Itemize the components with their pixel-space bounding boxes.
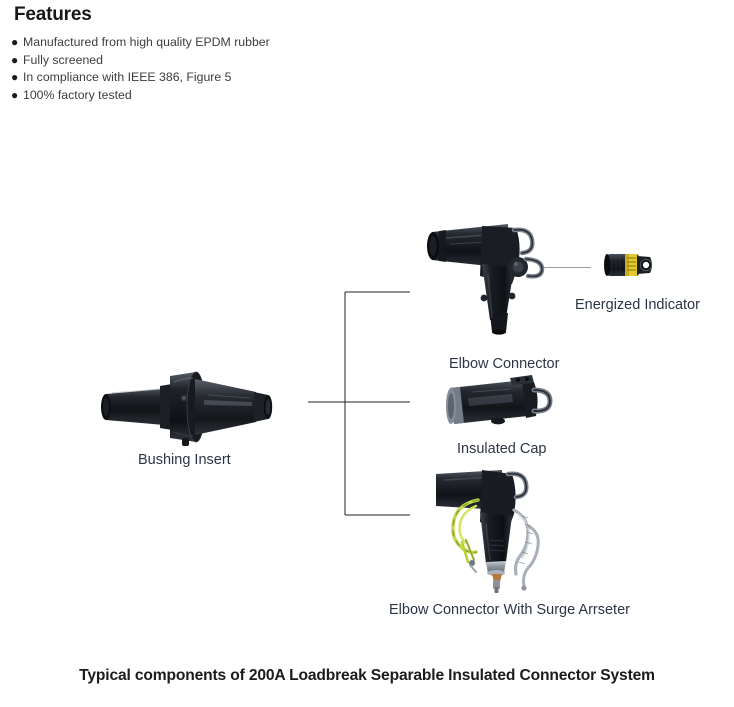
bullet-icon: ●	[11, 52, 18, 70]
label-energized-indicator: Energized Indicator	[575, 297, 700, 313]
feature-item: ● Fully screened	[10, 52, 270, 70]
feature-item: ● Manufactured from high quality EPDM ru…	[10, 34, 270, 52]
label-insulated-cap: Insulated Cap	[457, 441, 546, 457]
label-bushing-insert: Bushing Insert	[138, 452, 231, 468]
feature-item-label: Manufactured from high quality EPDM rubb…	[23, 35, 270, 49]
feature-item-label: 100% factory tested	[23, 88, 132, 102]
figure-caption: Typical components of 200A Loadbreak Sep…	[0, 667, 734, 685]
energized-indicator-illustration-icon	[602, 248, 660, 284]
elbow-connector-illustration-icon	[426, 214, 556, 336]
bullet-icon: ●	[11, 69, 18, 87]
bullet-icon: ●	[11, 87, 18, 105]
three-way-bracket-connector-icon	[300, 285, 420, 525]
label-elbow-connector-surge-arrester: Elbow Connector With Surge Arrseter	[389, 602, 630, 618]
features-list: ● Manufactured from high quality EPDM ru…	[10, 34, 270, 104]
datasheet-page: Features ● Manufactured from high qualit…	[0, 0, 734, 707]
feature-item: ● In compliance with IEEE 386, Figure 5	[10, 69, 270, 87]
feature-item: ● 100% factory tested	[10, 87, 270, 105]
feature-item-label: In compliance with IEEE 386, Figure 5	[23, 70, 231, 84]
bushing-insert-illustration-icon	[96, 362, 286, 452]
bullet-icon: ●	[11, 34, 18, 52]
label-elbow-connector: Elbow Connector	[449, 356, 559, 372]
feature-item-label: Fully screened	[23, 53, 103, 67]
elbow-connector-surge-arrester-illustration-icon	[436, 466, 572, 594]
insulated-cap-illustration-icon	[438, 372, 558, 436]
features-heading: Features	[14, 4, 92, 26]
